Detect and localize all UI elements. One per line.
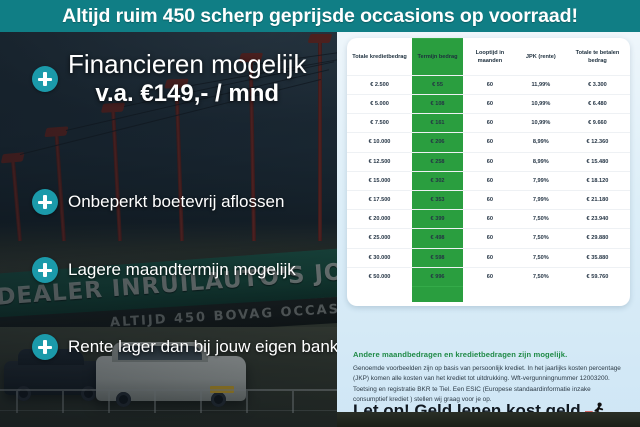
cell-totaal: € 6.480 [565, 95, 630, 114]
cell-krediet: € 7.500 [347, 114, 412, 133]
col-header-krediet: Totale kredietbedrag [347, 39, 412, 76]
panel-bottom-photo-strip [337, 412, 640, 427]
cell-krediet: € 30.000 [347, 248, 412, 267]
cell-termijn: € 108 [412, 95, 463, 114]
cell-krediet: € 2.500 [347, 75, 412, 94]
col-header-termijn: Termijn bedrag [412, 39, 463, 76]
table-row: € 2.500 € 55 60 11,99% € 3.300 [347, 75, 630, 94]
cell-looptijd: 60 [463, 210, 517, 229]
table-row: € 12.500 € 258 60 8,99% € 15.480 [347, 152, 630, 171]
cell-krediet: € 10.000 [347, 133, 412, 152]
cell-jkp: 7,50% [517, 229, 565, 248]
cell-jkp: 11,99% [517, 75, 565, 94]
cell-termijn: € 302 [412, 171, 463, 190]
table-row: € 25.000 € 498 60 7,50% € 29.880 [347, 229, 630, 248]
cell-totaal: € 21.180 [565, 190, 630, 209]
plus-circle-icon [32, 66, 58, 92]
top-banner: Altijd ruim 450 scherp geprijsde occasio… [0, 0, 640, 32]
cell-termijn: € 353 [412, 190, 463, 209]
benefit-hero: Financieren mogelijk v.a. €149,- / mnd [32, 50, 306, 109]
cell-looptijd: 60 [463, 152, 517, 171]
col-header-looptijd: Looptijd in maanden [463, 39, 517, 76]
cell-totaal: € 35.880 [565, 248, 630, 267]
cell-totaal: € 23.940 [565, 210, 630, 229]
cell-totaal: € 3.300 [565, 75, 630, 94]
cell-termijn: € 206 [412, 133, 463, 152]
cell-jkp: 10,99% [517, 95, 565, 114]
cell-looptijd: 60 [463, 95, 517, 114]
highlight-column-footer [347, 286, 630, 302]
hero-headline: Financieren mogelijk [68, 50, 306, 80]
cell-jkp: 7,99% [517, 171, 565, 190]
rate-table-card: Totale kredietbedrag Termijn bedrag Loop… [347, 38, 630, 306]
cell-krediet: € 50.000 [347, 267, 412, 286]
table-row: € 20.000 € 399 60 7,50% € 23.940 [347, 210, 630, 229]
cell-termijn: € 399 [412, 210, 463, 229]
benefit-item-3: Rente lager dan bij jouw eigen bank [32, 334, 338, 360]
table-row: € 50.000 € 996 60 7,50% € 59.760 [347, 267, 630, 286]
table-header-row: Totale kredietbedrag Termijn bedrag Loop… [347, 39, 630, 76]
cell-totaal: € 29.880 [565, 229, 630, 248]
table-row: € 7.500 € 161 60 10,99% € 9.660 [347, 114, 630, 133]
note-title: Andere maandbedragen en kredietbedragen … [353, 350, 629, 359]
cell-totaal: € 12.360 [565, 133, 630, 152]
cell-looptijd: 60 [463, 75, 517, 94]
cell-jkp: 7,50% [517, 267, 565, 286]
col-header-totaal: Totale te betalen bedrag [565, 39, 630, 76]
rate-table: Totale kredietbedrag Termijn bedrag Loop… [347, 38, 630, 302]
cell-krediet: € 17.500 [347, 190, 412, 209]
cell-krediet: € 25.000 [347, 229, 412, 248]
table-row: € 15.000 € 302 60 7,99% € 18.120 [347, 171, 630, 190]
cell-looptijd: 60 [463, 267, 517, 286]
financing-info-panel: Totale kredietbedrag Termijn bedrag Loop… [337, 32, 640, 427]
cell-jkp: 7,50% [517, 248, 565, 267]
cell-totaal: € 9.660 [565, 114, 630, 133]
table-row: € 17.500 € 353 60 7,99% € 21.180 [347, 190, 630, 209]
cell-termijn: € 55 [412, 75, 463, 94]
col-header-jkp: JPK (rente) [517, 39, 565, 76]
table-row: € 5.000 € 108 60 10,99% € 6.480 [347, 95, 630, 114]
cell-krediet: € 20.000 [347, 210, 412, 229]
cell-jkp: 7,50% [517, 210, 565, 229]
cell-looptijd: 60 [463, 229, 517, 248]
benefit-label: Rente lager dan bij jouw eigen bank [68, 337, 338, 357]
note-body: Genoemde voorbeelden zijn op basis van p… [353, 364, 621, 406]
benefit-hero-text: Financieren mogelijk v.a. €149,- / mnd [68, 50, 306, 109]
benefit-label: Lagere maandtermijn mogelijk [68, 260, 296, 280]
cell-looptijd: 60 [463, 133, 517, 152]
plus-circle-icon [32, 334, 58, 360]
cell-looptijd: 60 [463, 114, 517, 133]
cell-looptijd: 60 [463, 190, 517, 209]
top-banner-text: Altijd ruim 450 scherp geprijsde occasio… [62, 5, 578, 28]
cell-looptijd: 60 [463, 171, 517, 190]
cell-looptijd: 60 [463, 248, 517, 267]
cell-termijn: € 498 [412, 229, 463, 248]
benefit-label: Onbeperkt boetevrij aflossen [68, 192, 284, 212]
table-row: € 10.000 € 206 60 8,99% € 12.360 [347, 133, 630, 152]
benefits-list: Financieren mogelijk v.a. €149,- / mnd O… [0, 32, 340, 427]
promo-banner-image: DEALER INRUILAUTO'S JOHAN MEURE ALTIJD 4… [0, 0, 640, 427]
cell-jkp: 8,99% [517, 152, 565, 171]
rate-table-body: € 2.500 € 55 60 11,99% € 3.300 € 5.000 €… [347, 75, 630, 302]
plus-circle-icon [32, 257, 58, 283]
cell-termijn: € 258 [412, 152, 463, 171]
cell-jkp: 7,99% [517, 190, 565, 209]
cell-termijn: € 598 [412, 248, 463, 267]
cell-krediet: € 15.000 [347, 171, 412, 190]
cell-totaal: € 59.760 [565, 267, 630, 286]
cell-totaal: € 15.480 [565, 152, 630, 171]
cell-krediet: € 5.000 [347, 95, 412, 114]
cell-krediet: € 12.500 [347, 152, 412, 171]
cell-jkp: 10,99% [517, 114, 565, 133]
cell-termijn: € 161 [412, 114, 463, 133]
cell-termijn: € 996 [412, 267, 463, 286]
benefit-item-1: Onbeperkt boetevrij aflossen [32, 189, 284, 215]
benefit-item-2: Lagere maandtermijn mogelijk [32, 257, 296, 283]
cell-jkp: 8,99% [517, 133, 565, 152]
hero-subheadline: v.a. €149,- / mnd [68, 80, 306, 109]
plus-circle-icon [32, 189, 58, 215]
cell-totaal: € 18.120 [565, 171, 630, 190]
table-row: € 30.000 € 598 60 7,50% € 35.880 [347, 248, 630, 267]
